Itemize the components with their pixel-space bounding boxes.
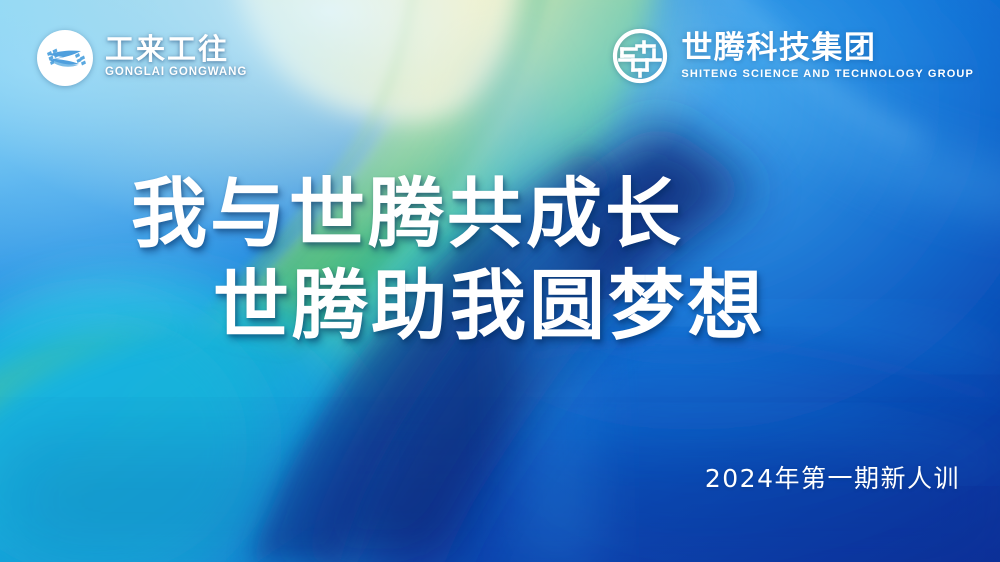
gonglai-name-cn: 工来工往 <box>105 35 247 64</box>
slide-title: 我与世腾共成长 世腾助我圆梦想 <box>0 168 1000 352</box>
slide-subtitle: 2024年第一期新人训 <box>705 459 960 495</box>
gonglai-name-en: GONGLAI GONGWANG <box>105 67 247 79</box>
shiteng-name-en: SHITENG SCIENCE AND TECHNOLOGY GROUP <box>681 69 974 80</box>
logo-shiteng-group: 世腾科技集团 SHITENG SCIENCE AND TECHNOLOGY GR… <box>610 26 974 86</box>
title-line-1: 我与世腾共成长 <box>0 168 1000 260</box>
shiteng-name-cn: 世腾科技集团 <box>681 33 974 64</box>
title-line-2: 世腾助我圆梦想 <box>0 260 1000 352</box>
shiteng-circle-monogram-icon <box>610 26 670 86</box>
logo-gonglai-gongwang: 工来工往 GONGLAI GONGWANG <box>34 27 247 89</box>
gonglai-wordmark: 工来工往 GONGLAI GONGWANG <box>105 35 247 81</box>
gonglai-circle-emblem-icon <box>34 27 96 89</box>
presentation-cover-slide: 工来工往 GONGLAI GONGWANG <box>0 0 1000 562</box>
shiteng-wordmark: 世腾科技集团 SHITENG SCIENCE AND TECHNOLOGY GR… <box>681 33 974 80</box>
